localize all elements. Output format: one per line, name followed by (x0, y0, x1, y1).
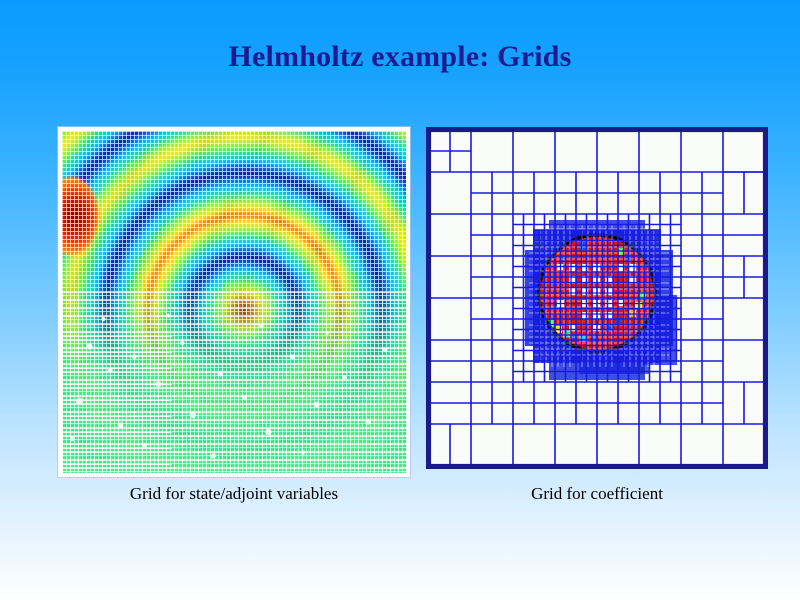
left-plot-canvas (62, 131, 406, 473)
caption-grid-coefficient: Grid for coefficient (426, 484, 768, 504)
mesh-coarse-cell-speckles (62, 131, 406, 473)
page-title: Helmholtz example: Grids (0, 40, 800, 74)
figure-grid-coefficient[interactable] (426, 127, 768, 469)
left-plot-frame (58, 127, 410, 477)
quadtree-grid-svg (429, 130, 765, 466)
caption-grid-state-adjoint: Grid for state/adjoint variables (58, 484, 410, 504)
right-plot-frame (426, 127, 768, 469)
figure-grid-state-adjoint[interactable] (58, 127, 410, 477)
wavefield-heatmap (62, 131, 406, 473)
slide-canvas: Helmholtz example: Grids Grid for state/… (0, 0, 800, 600)
